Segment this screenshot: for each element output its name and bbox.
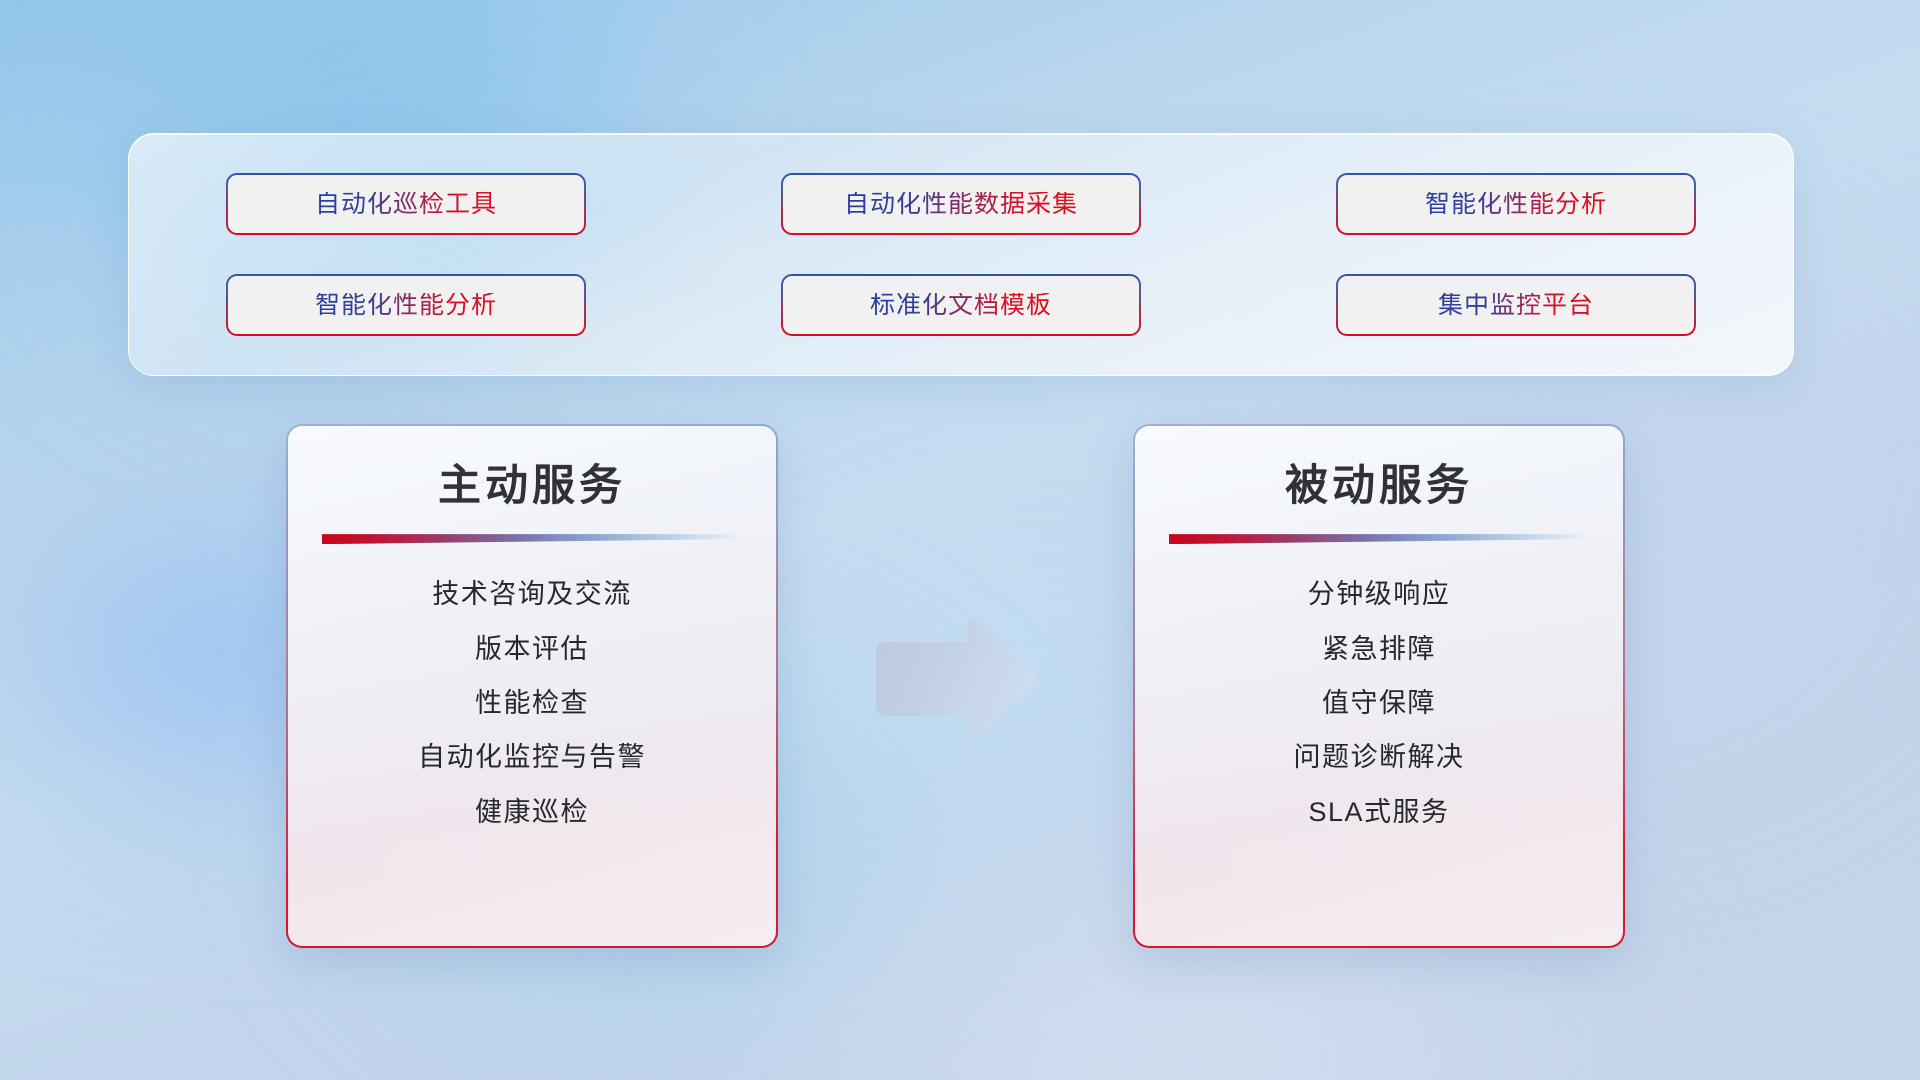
arrow-right-icon: [872, 616, 1040, 744]
capability-pill-1[interactable]: 自动化巡检工具: [226, 173, 586, 235]
capability-pill-6-inner: 集中监控平台: [1338, 276, 1694, 334]
list-item: 值守保障: [1322, 687, 1436, 719]
service-card-reactive[interactable]: 被动服务 分钟级响应 紧急排障 值守保障 问题诊断解决 SLA式服务: [1133, 424, 1625, 948]
capability-pill-1-label: 自动化巡检工具: [315, 192, 497, 217]
capability-pill-5-label: 标准化文档模板: [870, 293, 1052, 318]
capability-panel: 自动化巡检工具 自动化性能数据采集 智能化性能分析 智能化性能分析: [128, 133, 1794, 376]
service-card-proactive-inner: 主动服务 技术咨询及交流 版本评估 性能检查 自动化监控与告警 健康巡检: [288, 426, 776, 946]
capability-pill-6-label: 集中监控平台: [1438, 293, 1594, 318]
list-item: 问题诊断解决: [1294, 741, 1465, 773]
service-card-proactive-title: 主动服务: [438, 462, 626, 510]
capability-pill-6[interactable]: 集中监控平台: [1336, 274, 1696, 336]
capability-pill-1-inner: 自动化巡检工具: [228, 175, 584, 233]
capability-pill-3[interactable]: 智能化性能分析: [1336, 173, 1696, 235]
service-card-proactive[interactable]: 主动服务 技术咨询及交流 版本评估 性能检查 自动化监控与告警 健康巡检: [286, 424, 778, 948]
title-divider-proactive: [322, 534, 742, 544]
capability-pill-4-inner: 智能化性能分析: [228, 276, 584, 334]
list-item: 紧急排障: [1322, 633, 1436, 665]
list-item: 性能检查: [475, 687, 589, 719]
diagram-stage: 自动化巡检工具 自动化性能数据采集 智能化性能分析 智能化性能分析: [0, 0, 1920, 1080]
service-card-reactive-title: 被动服务: [1285, 462, 1473, 510]
capability-pill-5-inner: 标准化文档模板: [783, 276, 1139, 334]
list-item: 版本评估: [475, 633, 589, 665]
capability-pill-2-inner: 自动化性能数据采集: [783, 175, 1139, 233]
list-item: 分钟级响应: [1308, 578, 1451, 610]
capability-pill-3-label: 智能化性能分析: [1425, 192, 1607, 217]
capability-pill-2-label: 自动化性能数据采集: [844, 192, 1078, 217]
capability-pill-4-label: 智能化性能分析: [315, 293, 497, 318]
title-divider-reactive: [1169, 534, 1589, 544]
service-card-reactive-inner: 被动服务 分钟级响应 紧急排障 值守保障 问题诊断解决 SLA式服务: [1135, 426, 1623, 946]
capability-pill-5[interactable]: 标准化文档模板: [781, 274, 1141, 336]
list-item: SLA式服务: [1308, 796, 1449, 828]
list-item: 健康巡检: [475, 796, 589, 828]
capability-pill-3-inner: 智能化性能分析: [1338, 175, 1694, 233]
service-card-reactive-list: 分钟级响应 紧急排障 值守保障 问题诊断解决 SLA式服务: [1135, 578, 1623, 828]
service-card-proactive-list: 技术咨询及交流 版本评估 性能检查 自动化监控与告警 健康巡检: [288, 578, 776, 828]
list-item: 技术咨询及交流: [432, 578, 632, 610]
capability-pill-grid: 自动化巡检工具 自动化性能数据采集 智能化性能分析 智能化性能分析: [226, 173, 1696, 336]
capability-pill-4[interactable]: 智能化性能分析: [226, 274, 586, 336]
list-item: 自动化监控与告警: [418, 741, 646, 773]
capability-pill-2[interactable]: 自动化性能数据采集: [781, 173, 1141, 235]
